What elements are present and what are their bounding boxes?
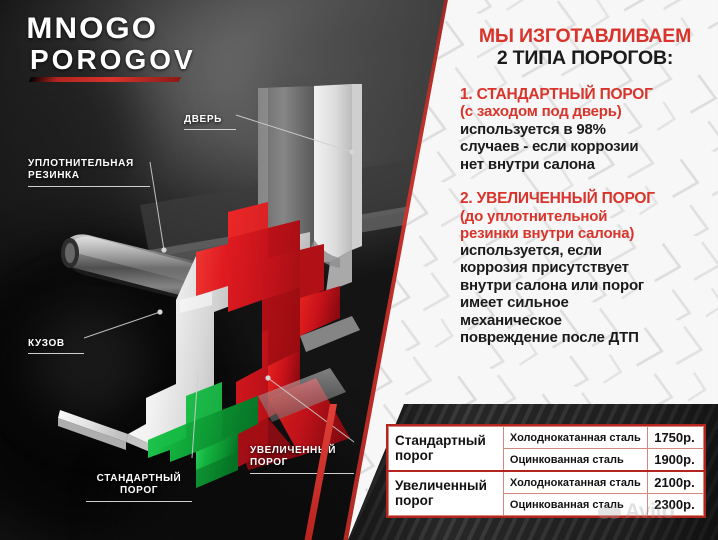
callout-body-label: КУЗОВ <box>28 338 65 349</box>
callout-door: ДВЕРЬ <box>184 101 236 143</box>
panel-section-standard: 1. СТАНДАРТНЫЙ ПОРОГ (с заходом под двер… <box>460 86 710 173</box>
brand-logo: MNOGO POROGOV <box>30 14 210 82</box>
panel-headline-line1: МЫ ИЗГОТАВЛИВАЕМ <box>460 26 710 47</box>
section-2-subtitle: (до уплотнительной резинки внутри салона… <box>460 208 710 242</box>
callout-door-label: ДВЕРЬ <box>184 114 222 125</box>
section-1-body: используется в 98% случаев - если корроз… <box>460 121 710 174</box>
callout-underline <box>86 501 192 502</box>
callout-standard-sill: СТАНДАРТНЫЙ ПОРОГ <box>86 460 192 514</box>
panel-section-increased: 2. УВЕЛИЧЕННЫЙ ПОРОГ (до уплотнительной … <box>460 190 710 347</box>
logo-text-top: MNOGO <box>26 14 213 44</box>
callout-increased-sill: УВЕЛИЧЕННЫЙ ПОРОГ <box>250 432 354 486</box>
callout-standard-sill-label: СТАНДАРТНЫЙ ПОРОГ <box>97 473 182 497</box>
poster-canvas: MNOGO POROGOV ДВЕРЬ УПЛОТНИТЕЛЬНАЯ РЕЗИН… <box>0 0 718 540</box>
callout-underline <box>28 186 150 187</box>
section-1-title: 1. СТАНДАРТНЫЙ ПОРОГ <box>460 86 710 103</box>
cell-type-standard: Стандартный порог <box>389 427 504 472</box>
section-2-body: используется, если коррозия присутствует… <box>460 242 710 347</box>
callout-body: КУЗОВ <box>28 325 84 367</box>
callout-seal: УПЛОТНИТЕЛЬНАЯ РЕЗИНКА <box>28 145 150 199</box>
cell-price: 2100р. <box>648 471 704 494</box>
cell-material: Оцинкованная сталь <box>503 449 647 472</box>
callout-underline <box>184 129 236 130</box>
cell-material: Холоднокатанная сталь <box>503 427 647 449</box>
panel-headline-line2: 2 ТИПА ПОРОГОВ: <box>460 48 710 69</box>
section-1-subtitle: (с заходом под дверь) <box>460 103 710 120</box>
logo-text-bottom: POROGOV <box>30 46 210 74</box>
cell-price: 1900р. <box>648 449 704 472</box>
cell-price: 2300р. <box>648 494 704 516</box>
info-panel-content: МЫ ИЗГОТАВЛИВАЕМ 2 ТИПА ПОРОГОВ: 1. СТАН… <box>460 26 710 347</box>
table-row: Стандартный порог Холоднокатанная сталь … <box>389 427 704 449</box>
table-row: Увеличенный порог Холоднокатанная сталь … <box>389 471 704 494</box>
cell-price: 1750р. <box>648 427 704 449</box>
callout-seal-label: УПЛОТНИТЕЛЬНАЯ РЕЗИНКА <box>28 158 134 182</box>
cell-type-increased: Увеличенный порог <box>389 471 504 516</box>
logo-underline-bar <box>29 77 182 82</box>
section-2-title: 2. УВЕЛИЧЕННЫЙ ПОРОГ <box>460 190 710 207</box>
callout-underline <box>28 353 84 354</box>
price-table: Стандартный порог Холоднокатанная сталь … <box>386 424 706 518</box>
cell-material: Холоднокатанная сталь <box>503 471 647 494</box>
callout-underline <box>250 473 354 474</box>
cell-material: Оцинкованная сталь <box>503 494 647 516</box>
